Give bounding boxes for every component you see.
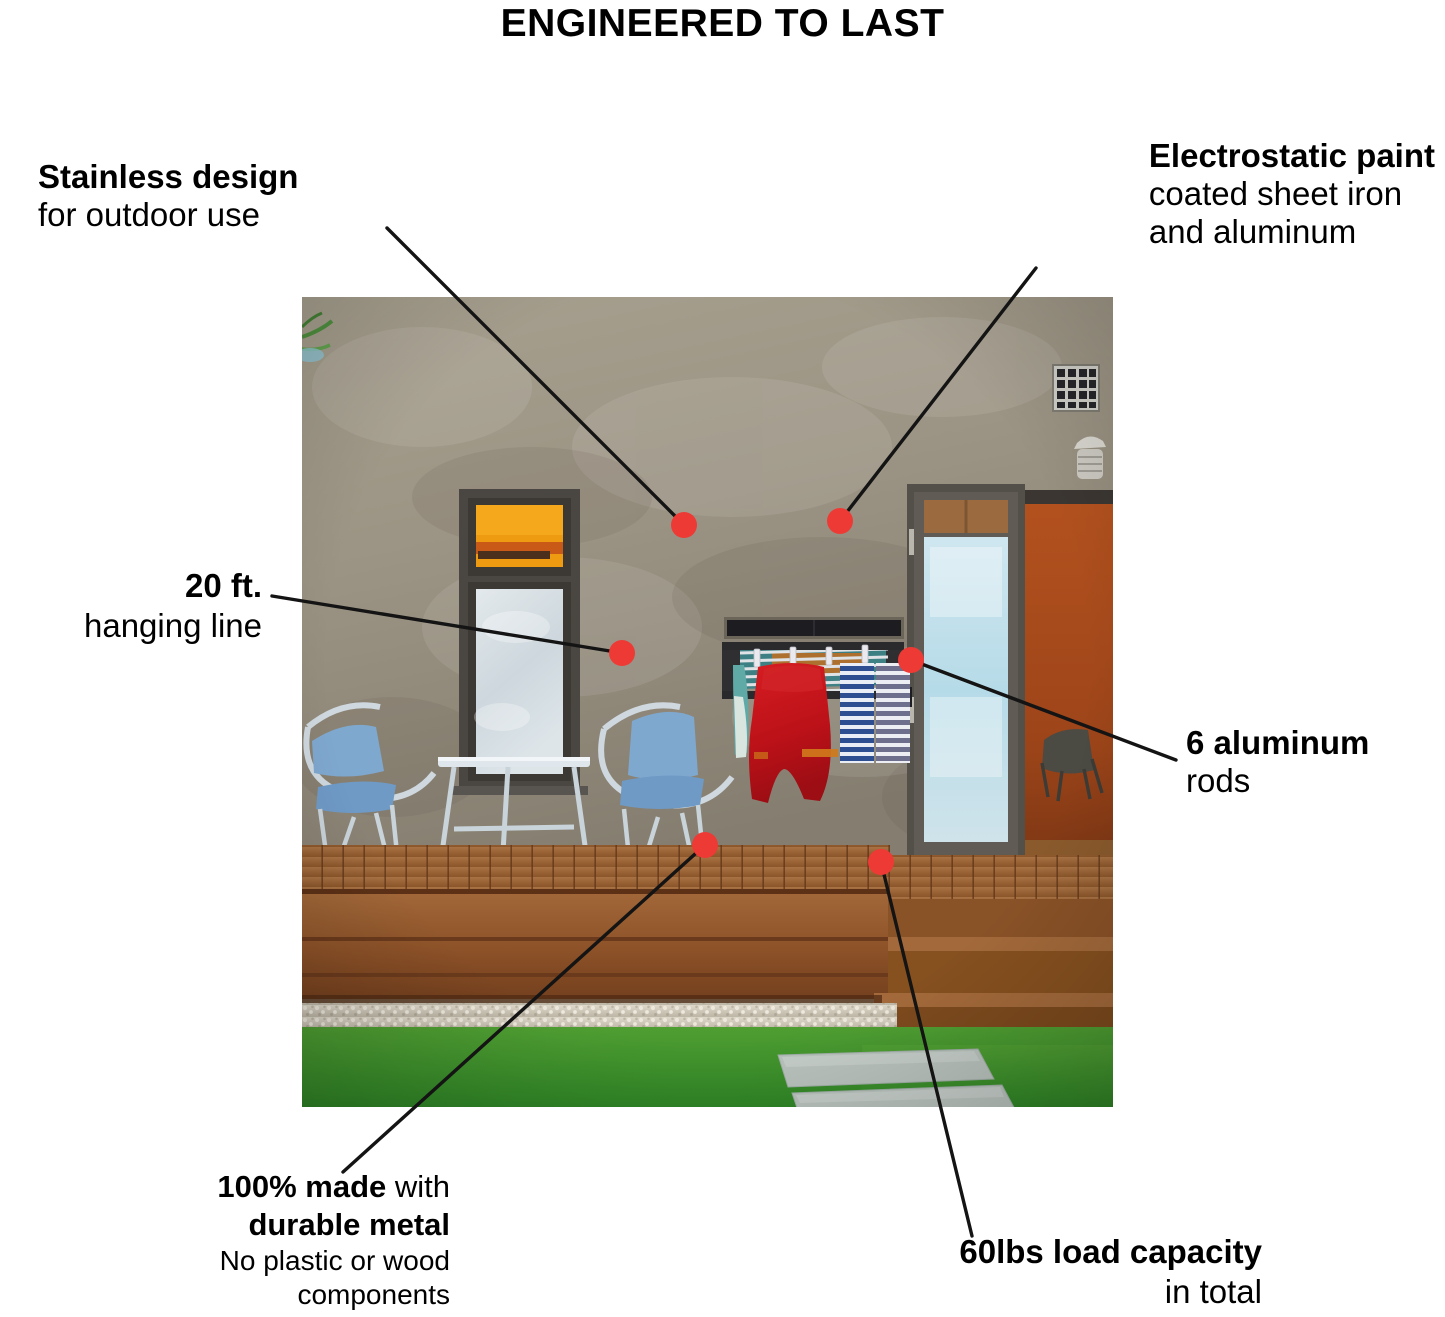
callout-line-sub: rods [1186,762,1369,800]
callout-line-title: Electrostatic paint [1149,137,1435,175]
callout-load-capacity: 60lbs load capacity in total [770,1232,1262,1312]
callout-line-sub: for outdoor use [38,196,298,234]
callout-line-title: Stainless design [38,158,298,196]
callout-emph-made: 100% made [217,1169,386,1204]
callout-stainless-design: Stainless design for outdoor use [38,158,298,234]
product-scene-photo [302,297,1113,1107]
callout-line-title: 6 aluminum [1186,724,1369,762]
callout-line-title-1: 100% made with [60,1168,450,1206]
callout-hanging-line: 20 ft. hanging line [0,566,262,646]
callout-line-title-2: durable metal [60,1206,450,1244]
callout-aluminum-rods: 6 aluminum rods [1186,724,1369,800]
callout-electrostatic-paint: Electrostatic paint coated sheet iron an… [1149,137,1435,251]
page-title: ENGINEERED TO LAST [0,0,1445,46]
callout-line-sub: hanging line [0,606,262,646]
callout-line-sub-2: components [60,1278,450,1312]
callout-plain-with: with [386,1169,450,1204]
callout-line-sub-1: coated sheet iron [1149,175,1435,213]
callout-line-title: 20 ft. [0,566,262,606]
scene-illustration [302,297,1113,1107]
callout-line-sub: in total [770,1272,1262,1312]
callout-line-sub-2: and aluminum [1149,213,1435,251]
callout-durable-metal: 100% made with durable metal No plastic … [60,1168,450,1312]
callout-line-sub-1: No plastic or wood [60,1244,450,1278]
callout-line-title: 60lbs load capacity [770,1232,1262,1272]
